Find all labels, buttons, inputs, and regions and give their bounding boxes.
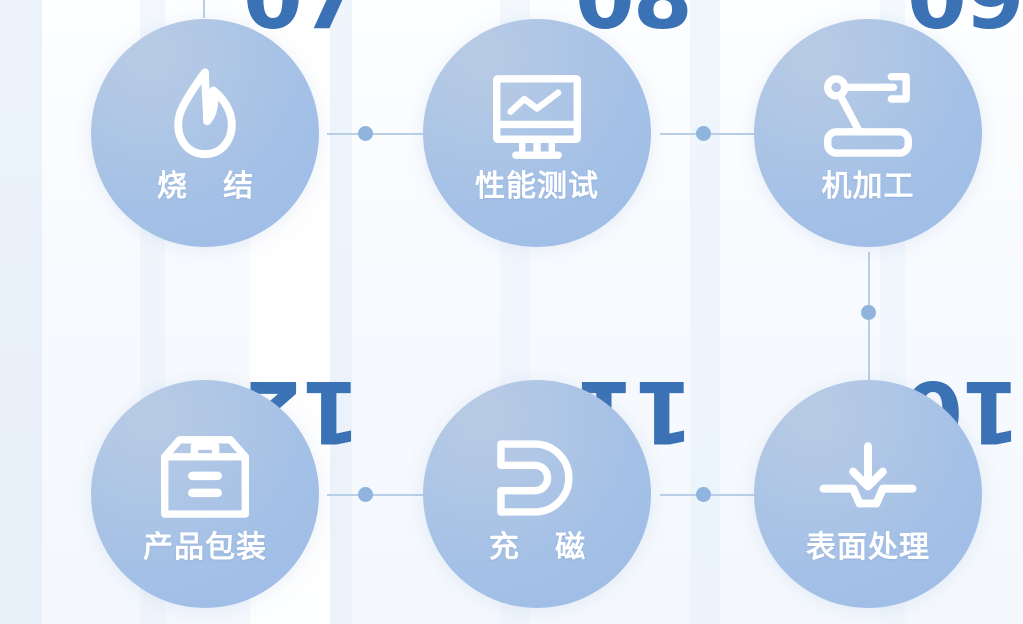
connector-08-09-dot xyxy=(696,126,711,141)
step-node-12[interactable]: 产品包装 xyxy=(91,380,319,608)
step-label-07: 烧 结 xyxy=(143,172,267,202)
magnet-icon xyxy=(484,425,590,531)
step-label-11: 充 磁 xyxy=(475,533,599,563)
step-label-09: 机加工 xyxy=(822,172,915,202)
step-node-09[interactable]: 机加工 xyxy=(754,19,982,247)
robot-arm-icon xyxy=(815,64,921,170)
connector-11-12-dot xyxy=(358,487,373,502)
step-node-10[interactable]: 表面处理 xyxy=(754,380,982,608)
package-box-icon xyxy=(152,425,258,531)
connector-07-08-dot xyxy=(358,126,373,141)
step-label-12: 产品包装 xyxy=(143,533,267,563)
monitor-chart-icon xyxy=(484,64,590,170)
step-label-10: 表面处理 xyxy=(806,533,930,563)
step-label-08: 性能测试 xyxy=(475,172,599,202)
process-flow-diagram: 07 烧 结 08 性能测试 09 xyxy=(0,0,1023,624)
step-node-11[interactable]: 充 磁 xyxy=(423,380,651,608)
flame-icon xyxy=(152,64,258,170)
connector-09-10-dot xyxy=(861,305,876,320)
step-node-08[interactable]: 性能测试 xyxy=(423,19,651,247)
connector-10-11-dot xyxy=(696,487,711,502)
connector-inbound-top xyxy=(203,0,205,18)
step-node-07[interactable]: 烧 结 xyxy=(91,19,319,247)
surface-press-icon xyxy=(815,425,921,531)
